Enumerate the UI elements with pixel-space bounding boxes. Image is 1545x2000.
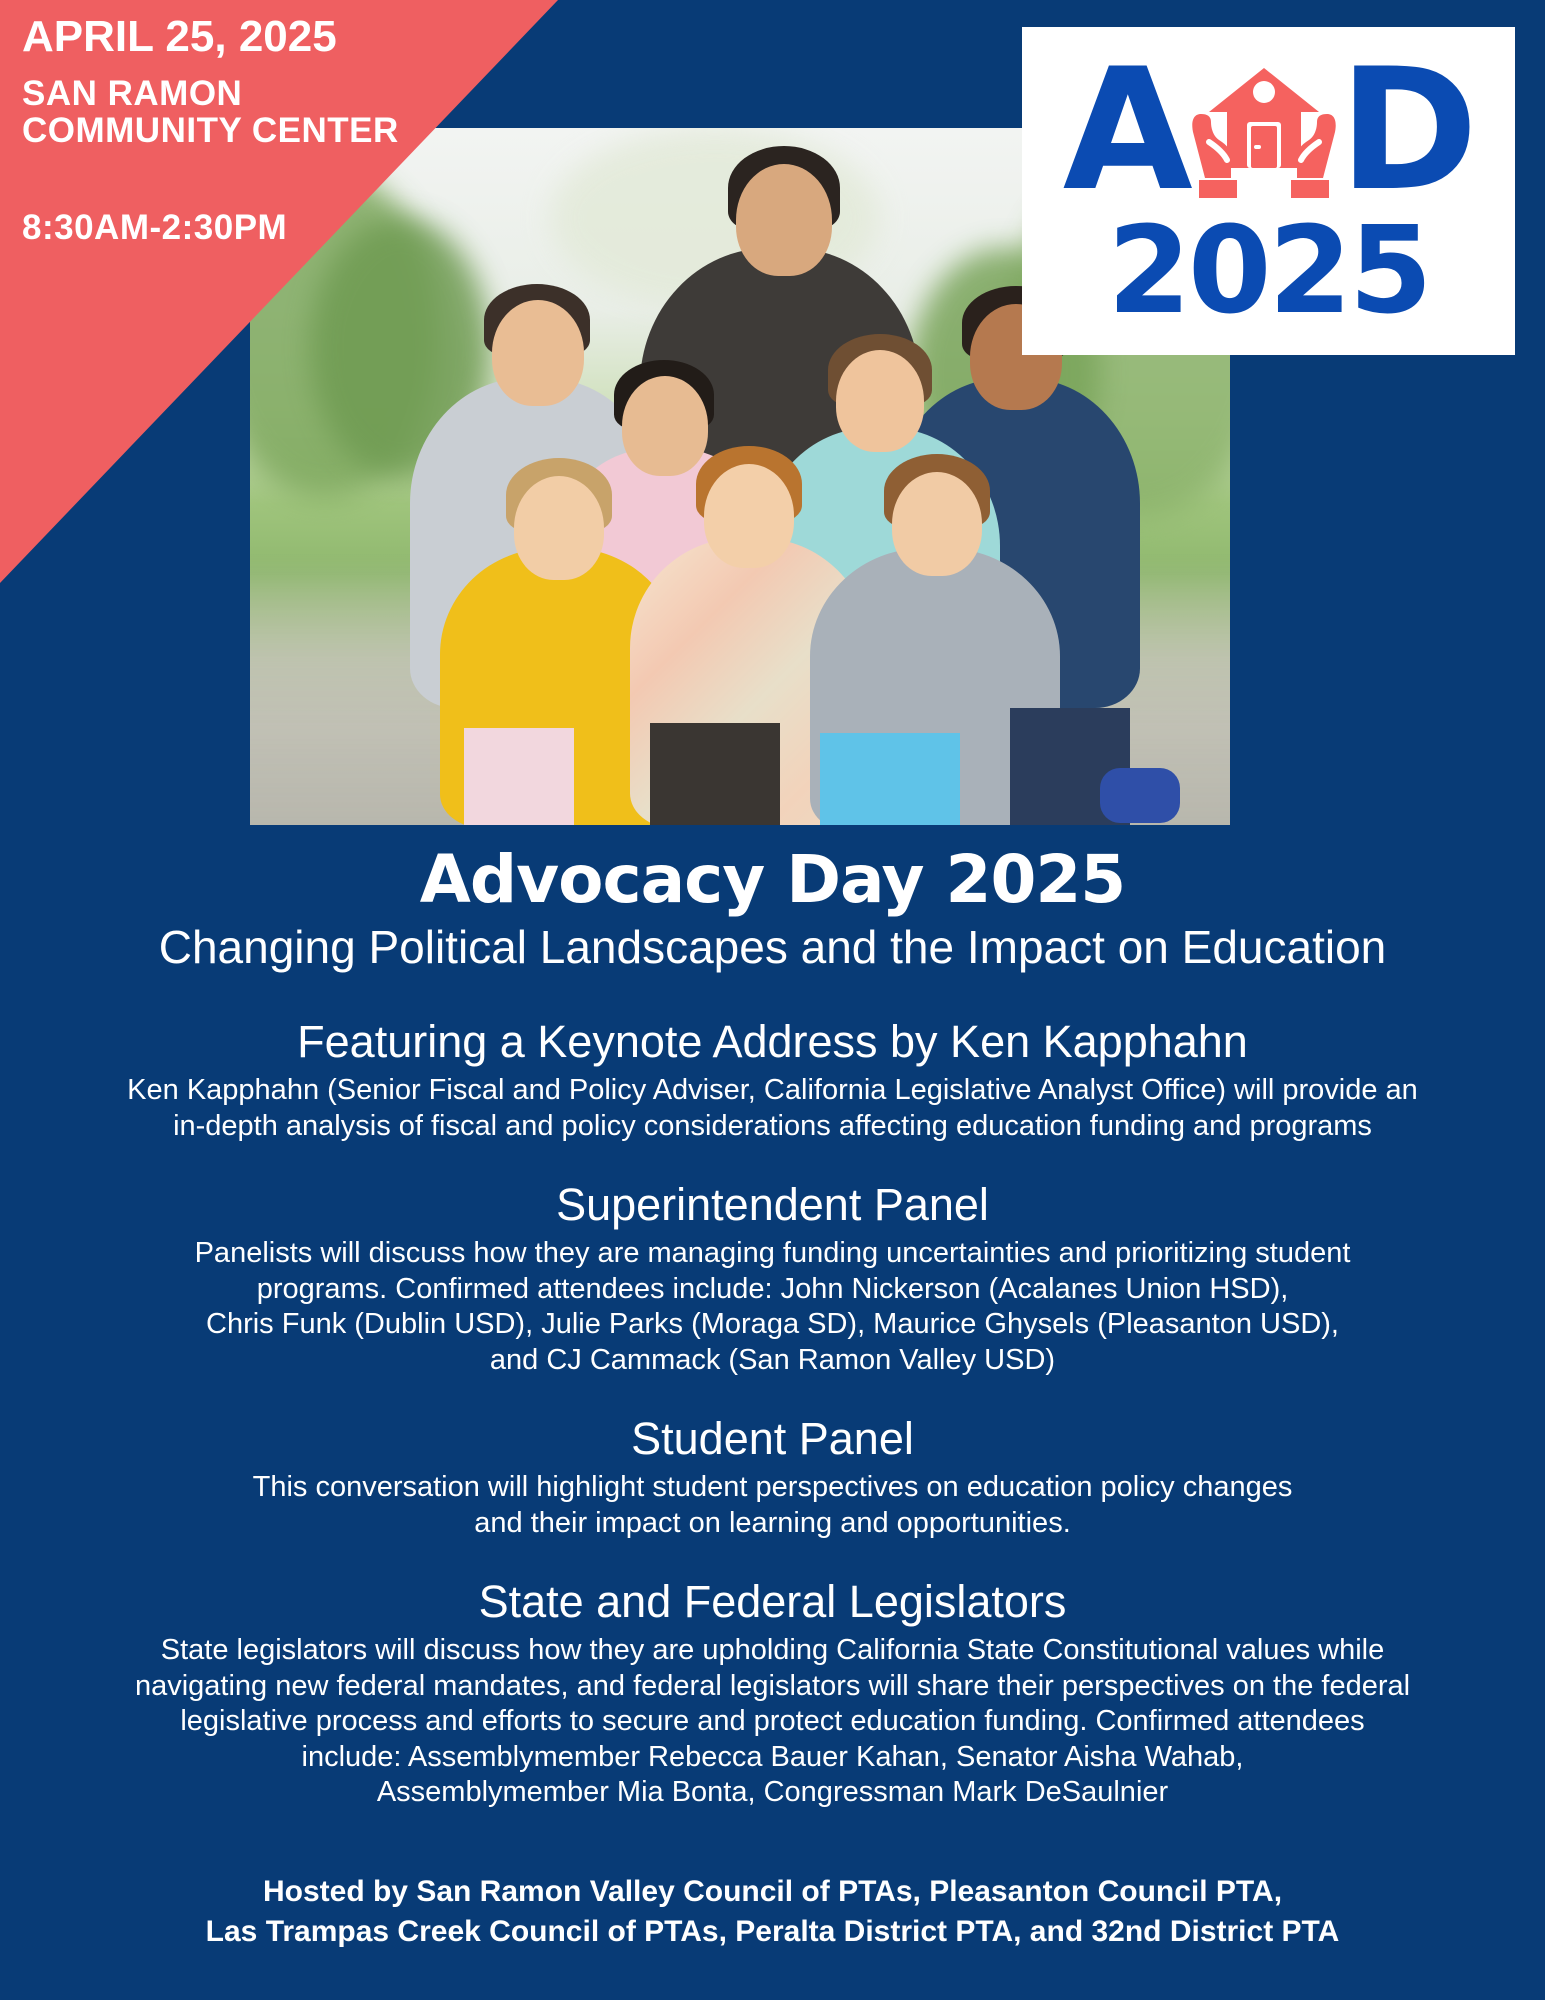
logo-letter-a: A [1063, 46, 1189, 214]
section-superintendent-panel: Superintendent Panel Panelists will disc… [30, 1180, 1515, 1378]
section-body-line: programs. Confirmed attendees include: J… [73, 1272, 1473, 1307]
section-keynote: Featuring a Keynote Address by Ken Kapph… [30, 1017, 1515, 1144]
event-date: April 25, 2025 [22, 14, 452, 61]
event-time: 8:30am-2:30pm [22, 209, 452, 246]
advocacy-day-logo: A [1022, 27, 1515, 355]
section-body-line: in-depth analysis of fiscal and policy c… [73, 1109, 1473, 1144]
section-body-line: Ken Kapphahn (Senior Fiscal and Policy A… [73, 1073, 1473, 1108]
logo-letter-d: D [1339, 46, 1474, 214]
flyer-content: Advocacy Day 2025 Changing Political Lan… [0, 845, 1545, 1952]
logo-top-row: A [1022, 37, 1515, 223]
page-subtitle: Changing Political Landscapes and the Im… [30, 922, 1515, 973]
section-body-line: and their impact on learning and opportu… [73, 1506, 1473, 1541]
section-body-line: State legislators will discuss how they … [73, 1633, 1473, 1668]
section-legislators: State and Federal Legislators State legi… [30, 1577, 1515, 1810]
section-body-line: include: Assemblymember Rebecca Bauer Ka… [73, 1740, 1473, 1775]
section-body-line: legislative process and efforts to secur… [73, 1704, 1473, 1739]
hosted-by-line: Las Trampas Creek Council of PTAs, Peral… [30, 1912, 1515, 1952]
section-body: Panelists will discuss how they are mana… [73, 1236, 1473, 1378]
section-body-line: Panelists will discuss how they are mana… [73, 1236, 1473, 1271]
hero-area: April 25, 2025 San Ramon Community Cente… [0, 0, 1545, 830]
section-heading: Featuring a Keynote Address by Ken Kapph… [30, 1017, 1515, 1067]
hands-holding-school-house-icon [1191, 50, 1337, 210]
section-student-panel: Student Panel This conversation will hig… [30, 1414, 1515, 1541]
section-body-line: Assemblymember Mia Bonta, Congressman Ma… [73, 1775, 1473, 1810]
flyer-page: April 25, 2025 San Ramon Community Cente… [0, 0, 1545, 2000]
hosted-by-line: Hosted by San Ramon Valley Council of PT… [30, 1872, 1515, 1912]
section-heading: Student Panel [30, 1414, 1515, 1464]
section-body: Ken Kapphahn (Senior Fiscal and Policy A… [73, 1073, 1473, 1144]
section-body-line: Chris Funk (Dublin USD), Julie Parks (Mo… [73, 1307, 1473, 1342]
page-title: Advocacy Day 2025 [30, 845, 1515, 914]
section-body: This conversation will highlight student… [73, 1470, 1473, 1541]
section-body-line: This conversation will highlight student… [73, 1470, 1473, 1505]
section-body-line: and CJ Cammack (San Ramon Valley USD) [73, 1343, 1473, 1378]
section-body-line: navigating new federal mandates, and fed… [73, 1669, 1473, 1704]
section-body: State legislators will discuss how they … [73, 1633, 1473, 1810]
logo-year: 2025 [1108, 217, 1430, 327]
event-venue: San Ramon Community Center [22, 75, 452, 149]
section-heading: Superintendent Panel [30, 1180, 1515, 1230]
event-details-block: April 25, 2025 San Ramon Community Cente… [22, 14, 452, 246]
hosted-by-block: Hosted by San Ramon Valley Council of PT… [30, 1872, 1515, 1951]
section-heading: State and Federal Legislators [30, 1577, 1515, 1627]
